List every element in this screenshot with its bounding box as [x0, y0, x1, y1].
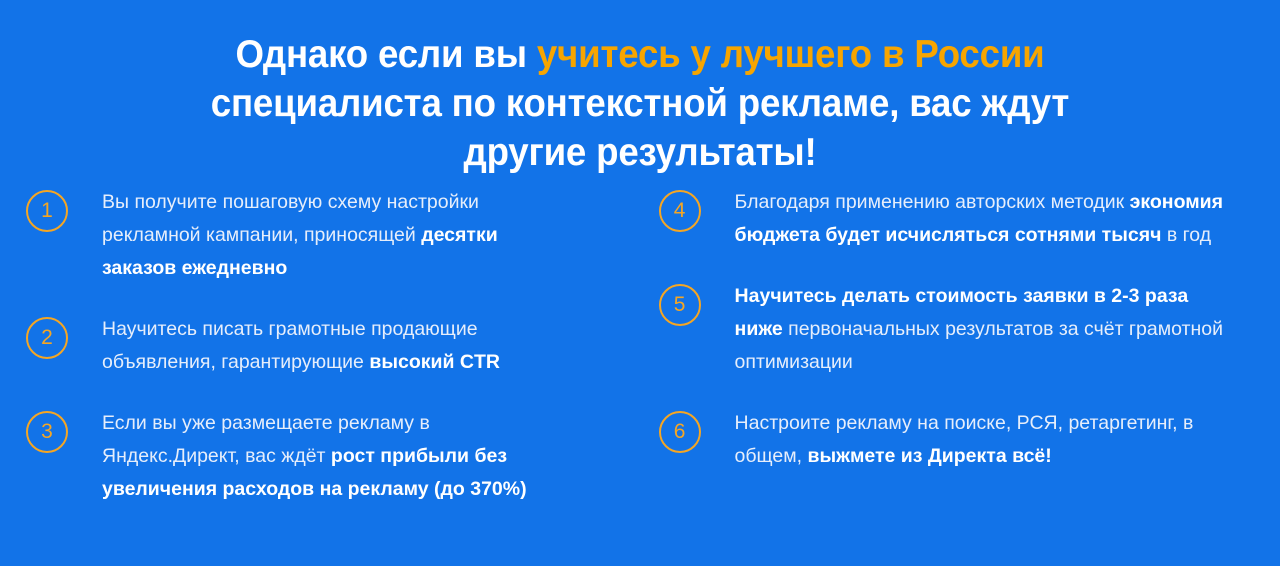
benefit-text: Научитесь делать стоимость заявки в 2-3 … — [735, 280, 1235, 379]
benefit-number-badge: 5 — [659, 284, 701, 326]
headline-part-1: Однако если вы — [235, 33, 536, 76]
benefit-text: Вы получите пошаговую схему настройки ре… — [102, 186, 572, 285]
benefit-number-badge: 3 — [26, 411, 68, 453]
benefit-text-segment-bold: высокий CTR — [369, 351, 500, 373]
list-item: 5 Научитесь делать стоимость заявки в 2-… — [659, 280, 1250, 379]
benefit-text-segment: Благодаря применению авторских методик — [735, 191, 1130, 213]
benefit-text-segment-bold: выжмете из Директа всё! — [807, 445, 1051, 467]
benefit-text: Если вы уже размещаете рекламу в Яндекс.… — [102, 407, 572, 506]
benefit-number-badge: 6 — [659, 411, 701, 453]
list-item: 1 Вы получите пошаговую схему настройки … — [26, 186, 583, 285]
benefits-column-left: 1 Вы получите пошаговую схему настройки … — [0, 186, 623, 506]
page-title: Однако если вы учитесь у лучшего в Росси… — [38, 30, 1241, 177]
headline-accent-1: учитесь у лучшего в — [537, 33, 905, 76]
benefit-text: Научитесь писать грамотные продающие объ… — [102, 313, 572, 379]
benefit-text: Настроите рекламу на поиске, РСЯ, ретарг… — [735, 407, 1235, 473]
promo-block: Однако если вы учитесь у лучшего в Росси… — [0, 0, 1280, 566]
list-item: 2 Научитесь писать грамотные продающие о… — [26, 313, 583, 379]
benefit-text: Благодаря применению авторских методик э… — [735, 186, 1235, 252]
benefit-text-segment: первоначальных результатов за счёт грамо… — [735, 318, 1223, 373]
benefit-number-badge: 1 — [26, 190, 68, 232]
headline-accent-2: России — [914, 33, 1044, 76]
list-item: 4 Благодаря применению авторских методик… — [659, 186, 1250, 252]
benefit-text-segment: в год — [1161, 224, 1211, 246]
benefits-list: 1 Вы получите пошаговую схему настройки … — [0, 186, 1280, 506]
benefit-number-badge: 2 — [26, 317, 68, 359]
benefits-column-right: 4 Благодаря применению авторских методик… — [659, 186, 1280, 506]
benefit-number-badge: 4 — [659, 190, 701, 232]
list-item: 6 Настроите рекламу на поиске, РСЯ, рета… — [659, 407, 1250, 473]
headline-part-2: специалиста по контекстной рекламе, вас … — [211, 82, 1069, 174]
list-item: 3 Если вы уже размещаете рекламу в Яндек… — [26, 407, 583, 506]
